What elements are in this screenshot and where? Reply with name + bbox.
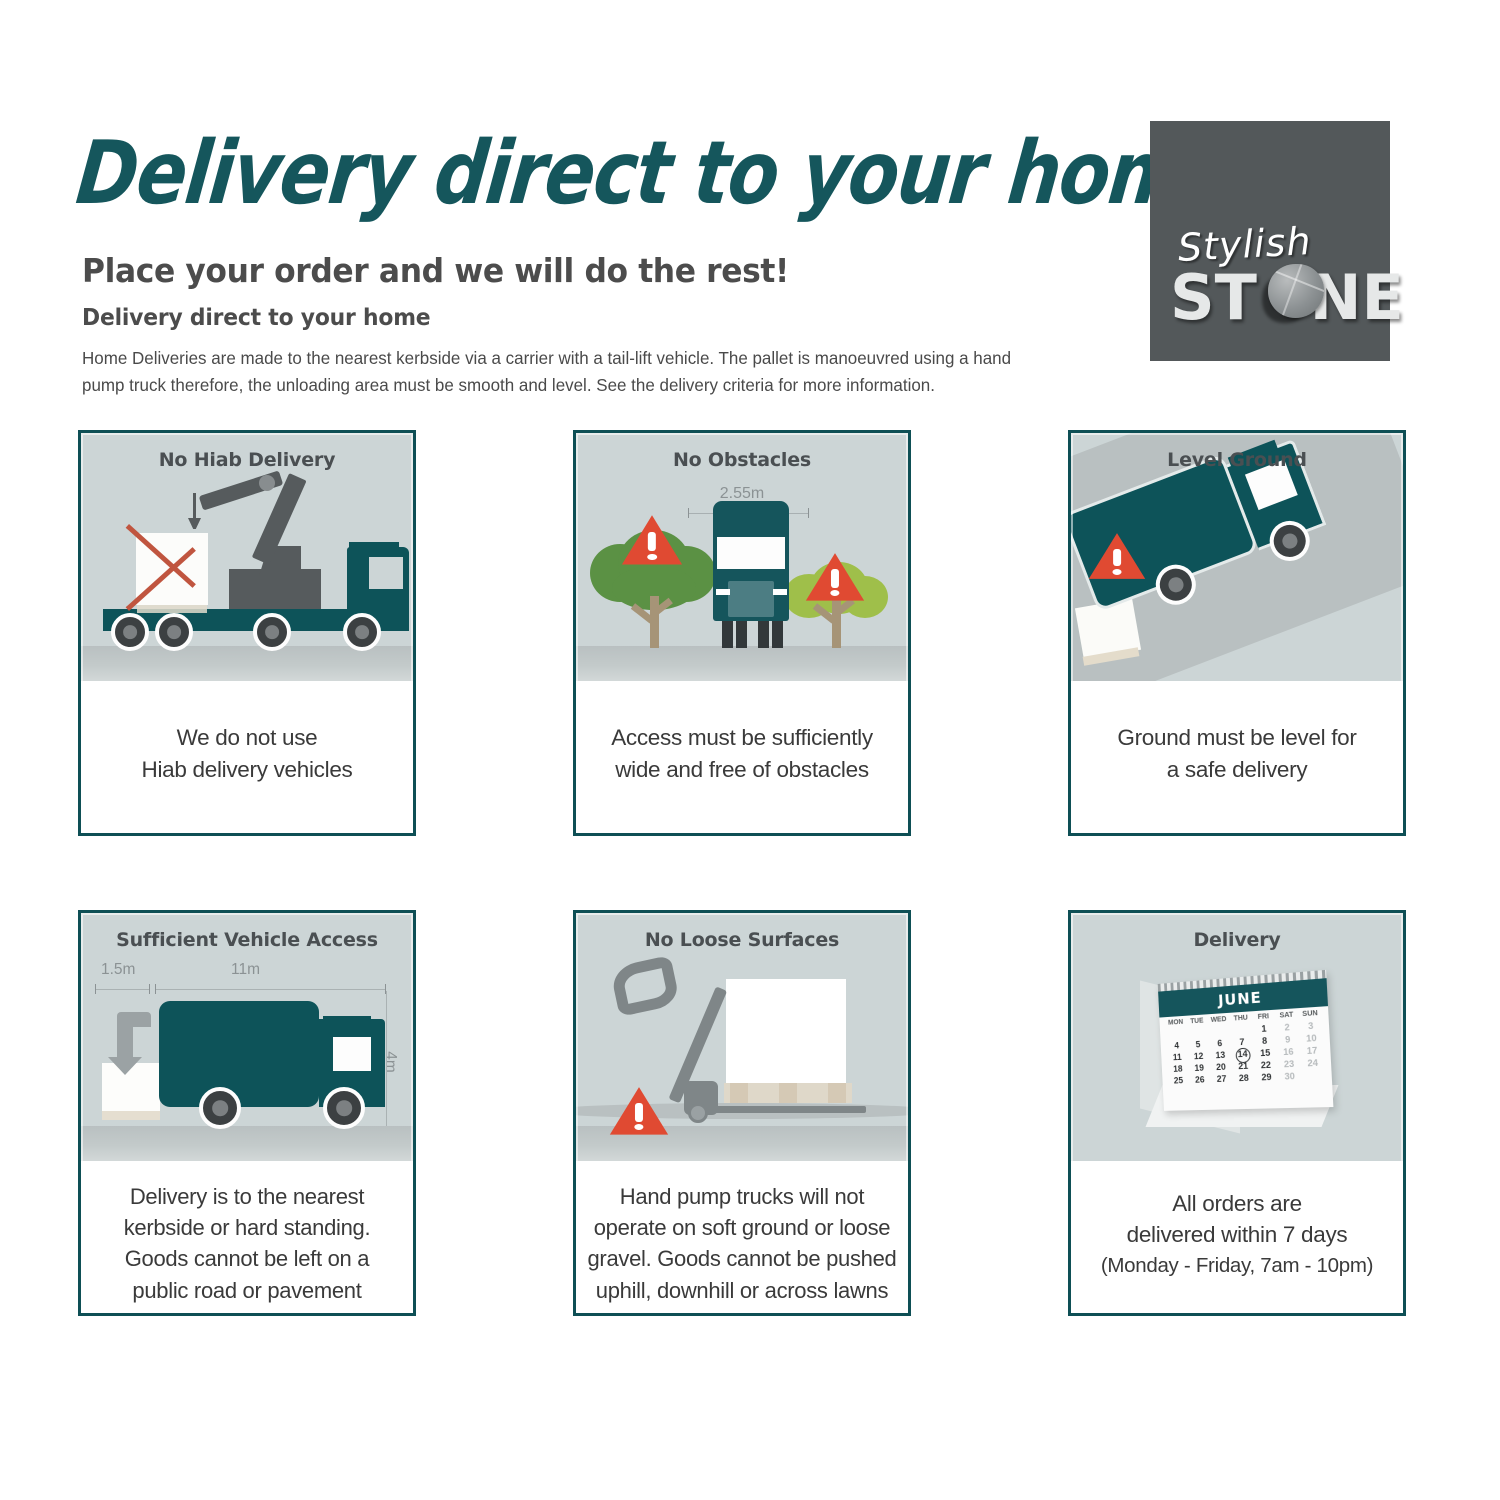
pallet-base-icon	[102, 1110, 160, 1120]
card-title: Sufficient Vehicle Access	[81, 929, 413, 951]
wheel-icon	[111, 613, 149, 651]
calendar-date-cell: 25	[1168, 1075, 1190, 1085]
wheel-icon	[323, 1087, 365, 1129]
warning-triangle-icon	[608, 1085, 670, 1139]
stone-ball-icon	[1268, 264, 1324, 318]
calendar-date-cell: 2	[1275, 1021, 1299, 1033]
exclamation-dot	[1113, 569, 1122, 575]
caption-line: Goods cannot be left on a	[125, 1246, 369, 1271]
calendar-empty-cell	[1165, 1028, 1187, 1039]
calendar-empty-cell	[1187, 1027, 1209, 1038]
dimension-tick	[149, 984, 150, 994]
cab-roof-icon	[349, 542, 399, 551]
truck-leg	[772, 618, 783, 648]
card-caption: All orders are delivered within 7 days (…	[1071, 1161, 1403, 1313]
crane-joint-icon	[259, 475, 275, 491]
pallet-block	[779, 1083, 797, 1103]
calendar-date-cell: 28	[1232, 1073, 1255, 1084]
card-illustration-obstacles: No Obstacles 2.55m	[576, 433, 908, 681]
calendar-date-cell: 5	[1187, 1039, 1209, 1050]
dimension-tick	[155, 984, 156, 994]
card-caption: Access must be sufficiently wide and fre…	[576, 681, 908, 833]
calendar-date-cell: 24	[1300, 1057, 1324, 1068]
calendar-weekday: THU	[1229, 1014, 1252, 1022]
card-illustration-hiab: No Hiab Delivery	[81, 433, 413, 681]
calendar-date-cell: 7	[1231, 1036, 1254, 1047]
exclamation-bar	[635, 1103, 643, 1121]
caption-line: wide and free of obstacles	[615, 757, 869, 782]
card-no-obstacles: No Obstacles 2.55m	[573, 430, 911, 836]
caption-line: delivered within 7 days	[1127, 1222, 1348, 1247]
calendar-date-cell: 19	[1188, 1062, 1210, 1073]
truck-leg	[758, 618, 769, 648]
criteria-card-grid: No Hiab Delivery	[78, 430, 1414, 1316]
calendar-date-cell: 14	[1231, 1048, 1254, 1059]
exclamation-dot	[647, 554, 657, 560]
calendar-date-cell: 15	[1254, 1047, 1277, 1058]
calendar-empty-cell	[1301, 1070, 1325, 1081]
pallet-base-icon	[724, 1083, 852, 1103]
calendar-empty-cell	[1208, 1026, 1230, 1037]
warning-triangle-icon	[620, 513, 684, 569]
exclamation-bar	[648, 532, 656, 551]
cab-window-icon	[369, 557, 403, 589]
ground-strip	[576, 646, 908, 681]
truck-leg	[736, 618, 747, 648]
page-subtitle: Place your order and we will do the rest…	[82, 251, 1042, 290]
logo-block-start: ST	[1170, 261, 1257, 334]
crane-cable-icon	[193, 493, 196, 521]
caption-line: Ground must be level for	[1117, 725, 1356, 750]
crane-hook-icon	[188, 518, 201, 529]
caption-line: public road or pavement	[132, 1278, 361, 1303]
calendar-date-cell: 10	[1299, 1032, 1323, 1044]
calendar-date-cell: 18	[1167, 1063, 1189, 1074]
pallet-block	[730, 1083, 748, 1103]
ground-strip	[81, 646, 413, 681]
intro-paragraph: Home Deliveries are made to the nearest …	[82, 345, 1052, 398]
caption-line: gravel. Goods cannot be pushed	[587, 1246, 896, 1271]
dimension-tick	[688, 508, 689, 518]
warning-triangle-icon	[804, 551, 866, 605]
tree-trunk	[650, 596, 659, 648]
calendar-weekday: FRI	[1252, 1013, 1275, 1022]
calendar-weekday: WED	[1208, 1016, 1230, 1024]
pump-truck-grip-icon	[609, 955, 680, 1017]
brand-logo: Stylish STONE	[1150, 121, 1390, 361]
caption-line: a safe delivery	[1167, 757, 1308, 782]
dimension-tick	[95, 984, 96, 994]
calendar-date-cell: 23	[1277, 1058, 1301, 1069]
caption-line: Delivery is to the nearest	[130, 1184, 364, 1209]
card-title: Delivery	[1071, 929, 1403, 951]
wheel-icon	[155, 613, 193, 651]
calendar-date-cell: 27	[1210, 1073, 1232, 1084]
pallet-load-icon	[102, 1063, 160, 1111]
pallet-block	[828, 1083, 846, 1103]
wheel-icon	[253, 613, 291, 651]
card-caption: Hand pump trucks will not operate on sof…	[576, 1161, 908, 1316]
calendar-date-cell: 6	[1209, 1038, 1231, 1049]
calendar-weekday: SAT	[1275, 1011, 1299, 1020]
calendar-weekday: TUE	[1186, 1017, 1208, 1025]
wheel-icon	[199, 1087, 241, 1129]
page-section-heading: Delivery direct to your home	[82, 305, 1042, 331]
grille-icon	[728, 581, 774, 617]
delivery-infographic-page: Delivery direct to your home Place your …	[0, 0, 1500, 1500]
headlight-icon	[773, 589, 787, 595]
card-title: No Loose Surfaces	[576, 929, 908, 951]
logo-block-end: NE	[1310, 261, 1404, 334]
truck-body-icon	[159, 1001, 319, 1107]
calendar-date-cell: 30	[1278, 1071, 1302, 1082]
calendar-date-cell: 22	[1254, 1059, 1277, 1070]
calendar-date-cell: 8	[1253, 1035, 1276, 1046]
card-title: No Hiab Delivery	[81, 449, 413, 471]
card-illustration-calendar: Delivery JUNE MONTUEWEDTHUFRISATSUN 1234…	[1071, 913, 1403, 1161]
dimension-label-clearance: 1.5m	[101, 961, 135, 979]
calendar-date-cell: 9	[1276, 1034, 1300, 1045]
exclamation-bar	[831, 569, 839, 587]
desk-calendar-icon: JUNE MONTUEWEDTHUFRISATSUN 1234567891011…	[1132, 967, 1342, 1137]
calendar-date-cell: 20	[1210, 1061, 1232, 1072]
exclamation-bar	[1113, 549, 1121, 567]
logo-artwork: Stylish STONE	[1150, 121, 1390, 361]
calendar-date-cell: 12	[1188, 1051, 1210, 1062]
pallet-fork-icon	[702, 1106, 866, 1113]
calendar-date-cell: 13	[1209, 1050, 1231, 1061]
calendar-date-cell: 29	[1255, 1072, 1278, 1083]
calendar-date-cell: 17	[1300, 1045, 1324, 1056]
dimension-label-length: 11m	[231, 961, 260, 979]
card-illustration-loose-surface: No Loose Surfaces	[576, 913, 908, 1161]
caption-line: operate on soft ground or loose	[594, 1215, 890, 1240]
cab-window-icon	[333, 1037, 371, 1071]
dimension-line	[155, 989, 385, 990]
cab-roof-icon	[323, 1016, 371, 1025]
card-title: No Obstacles	[576, 449, 908, 471]
calendar-date-cell: 11	[1167, 1052, 1189, 1063]
card-caption: We do not use Hiab delivery vehicles	[81, 681, 413, 833]
dimension-line	[95, 989, 149, 990]
headlight-icon	[716, 589, 730, 595]
calendar-weekday: SUN	[1298, 1010, 1322, 1019]
card-caption: Delivery is to the nearest kerbside or h…	[81, 1161, 413, 1316]
caption-line: Access must be sufficiently	[611, 725, 873, 750]
dimension-tick	[808, 508, 809, 518]
calendar-weekday: MON	[1165, 1019, 1186, 1027]
card-title: Level Ground	[1071, 449, 1403, 471]
card-caption: Ground must be level for a safe delivery	[1071, 681, 1403, 833]
calendar-page: JUNE MONTUEWEDTHUFRISATSUN 1234567891011…	[1158, 970, 1334, 1111]
pump-truck-wheel-icon	[688, 1103, 708, 1123]
wheel-icon	[343, 613, 381, 651]
card-no-hiab-delivery: No Hiab Delivery	[78, 430, 416, 836]
windshield-icon	[717, 537, 785, 569]
caption-line: Hand pump trucks will not	[620, 1184, 864, 1209]
dimension-line-vertical	[386, 991, 387, 1131]
warning-triangle-icon	[1087, 531, 1147, 583]
card-illustration-vehicle-access: Sufficient Vehicle Access 1.5m 11m 4m	[81, 913, 413, 1161]
card-level-ground: Level Ground	[1068, 430, 1406, 836]
caption-line: (Monday - Friday, 7am - 10pm)	[1101, 1251, 1373, 1280]
card-sufficient-vehicle-access: Sufficient Vehicle Access 1.5m 11m 4m	[78, 910, 416, 1316]
caption-line: We do not use	[177, 725, 318, 750]
calendar-date-cell: 3	[1299, 1020, 1323, 1032]
calendar-date-cell: 1	[1252, 1023, 1275, 1034]
calendar-date-cell: 4	[1166, 1040, 1188, 1051]
dimension-tick	[385, 984, 386, 994]
caption-line: All orders are	[1172, 1191, 1302, 1216]
calendar-empty-cell	[1230, 1024, 1253, 1035]
header-block: Delivery direct to your home Place your …	[82, 130, 1092, 399]
calendar-date-cell: 26	[1189, 1074, 1211, 1085]
pallet-base-icon	[137, 604, 207, 613]
down-arrow-icon	[117, 1021, 133, 1061]
ground-strip	[81, 1126, 413, 1161]
pallet-load-icon	[726, 979, 846, 1083]
page-title: Delivery direct to your home	[73, 130, 1092, 219]
calendar-date-cell: 16	[1276, 1046, 1300, 1057]
truck-leg	[722, 618, 733, 648]
card-no-loose-surfaces: No Loose Surfaces	[573, 910, 911, 1316]
caption-line: kerbside or hard standing.	[124, 1215, 371, 1240]
card-delivery-timeframe: Delivery JUNE MONTUEWEDTHUFRISATSUN 1234…	[1068, 910, 1406, 1316]
calendar-date-grid: 1234567891011121314151617181920212223242…	[1165, 1020, 1325, 1086]
caption-line: Hiab delivery vehicles	[142, 757, 353, 782]
card-illustration-slope: Level Ground	[1071, 433, 1403, 681]
caption-line: uphill, downhill or across lawns	[596, 1278, 888, 1303]
